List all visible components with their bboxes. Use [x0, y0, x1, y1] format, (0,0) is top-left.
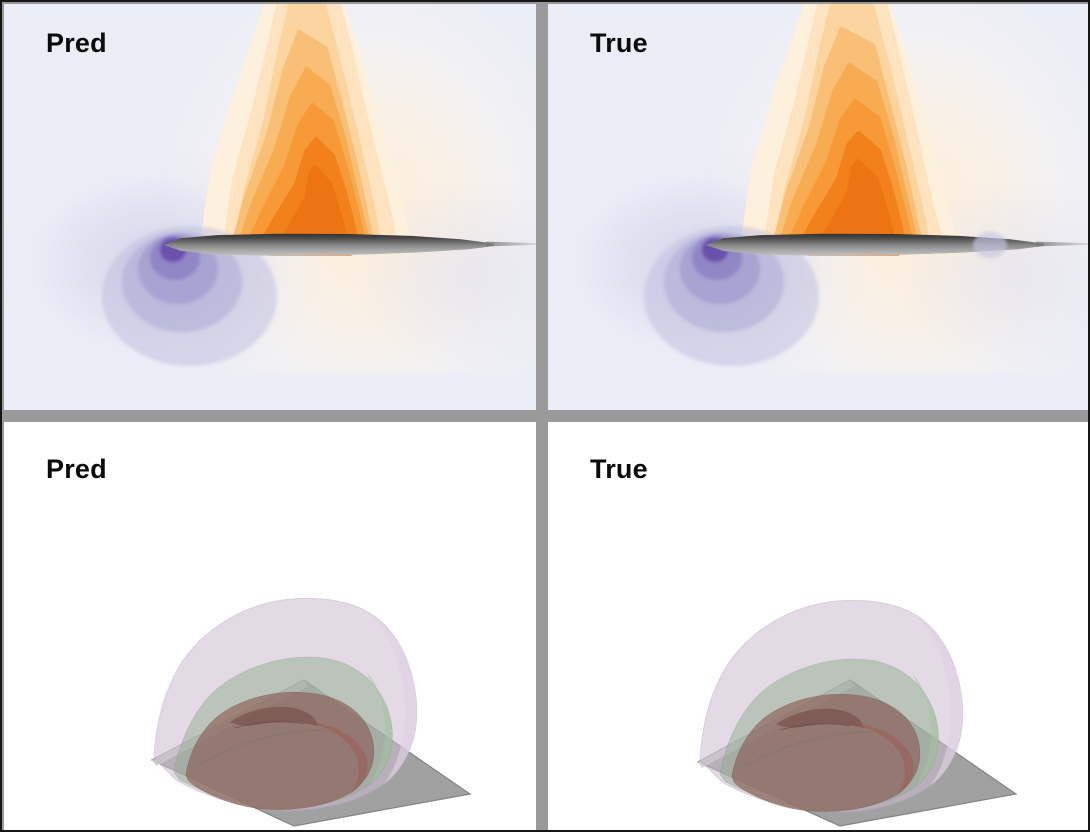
panel-top-left: Pred [4, 4, 536, 410]
wake-vortex-blob [973, 232, 1007, 258]
panel-label-pred-bottom: Pred [46, 454, 107, 485]
pressure-contour-pred [4, 4, 536, 410]
panel-label-true-top: True [590, 28, 648, 59]
panel-label-true-bottom: True [590, 454, 648, 485]
panel-bottom-right: Ma=1 Mach 1.21.161.121.081.041 True [548, 422, 1088, 830]
pressure-contour-true [548, 4, 1088, 410]
suction-plume [548, 4, 1088, 410]
figure-root: Pred [0, 0, 1090, 832]
panel-label-pred-top: Pred [46, 28, 107, 59]
panel-bottom-left: Ma=1 Pred [4, 422, 536, 830]
panel-top-right: Pressure_Coefficient 0.90.6428570.385714… [548, 4, 1088, 410]
suction-plume [4, 4, 536, 410]
